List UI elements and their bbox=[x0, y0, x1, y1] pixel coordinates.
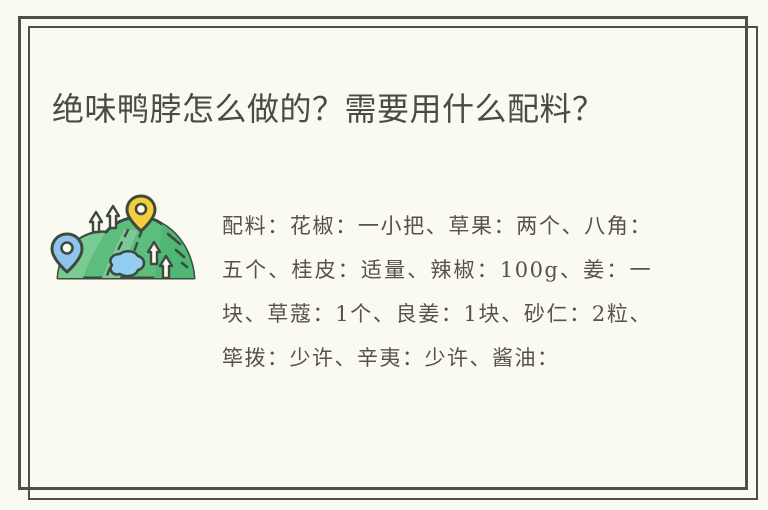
map-hill-illustration-icon bbox=[50, 190, 200, 295]
article-page: 绝味鸭脖怎么做的？需要用什么配料？ bbox=[0, 0, 768, 510]
article-body-text: 配料：花椒：一小把、草果：两个、八角：五个、桂皮：适量、辣椒：100g、姜：一块… bbox=[222, 190, 652, 380]
page-title: 绝味鸭脖怎么做的？需要用什么配料？ bbox=[52, 83, 677, 135]
article-body-row: 配料：花椒：一小把、草果：两个、八角：五个、桂皮：适量、辣椒：100g、姜：一块… bbox=[50, 190, 710, 380]
article-content: 绝味鸭脖怎么做的？需要用什么配料？ bbox=[0, 0, 768, 510]
